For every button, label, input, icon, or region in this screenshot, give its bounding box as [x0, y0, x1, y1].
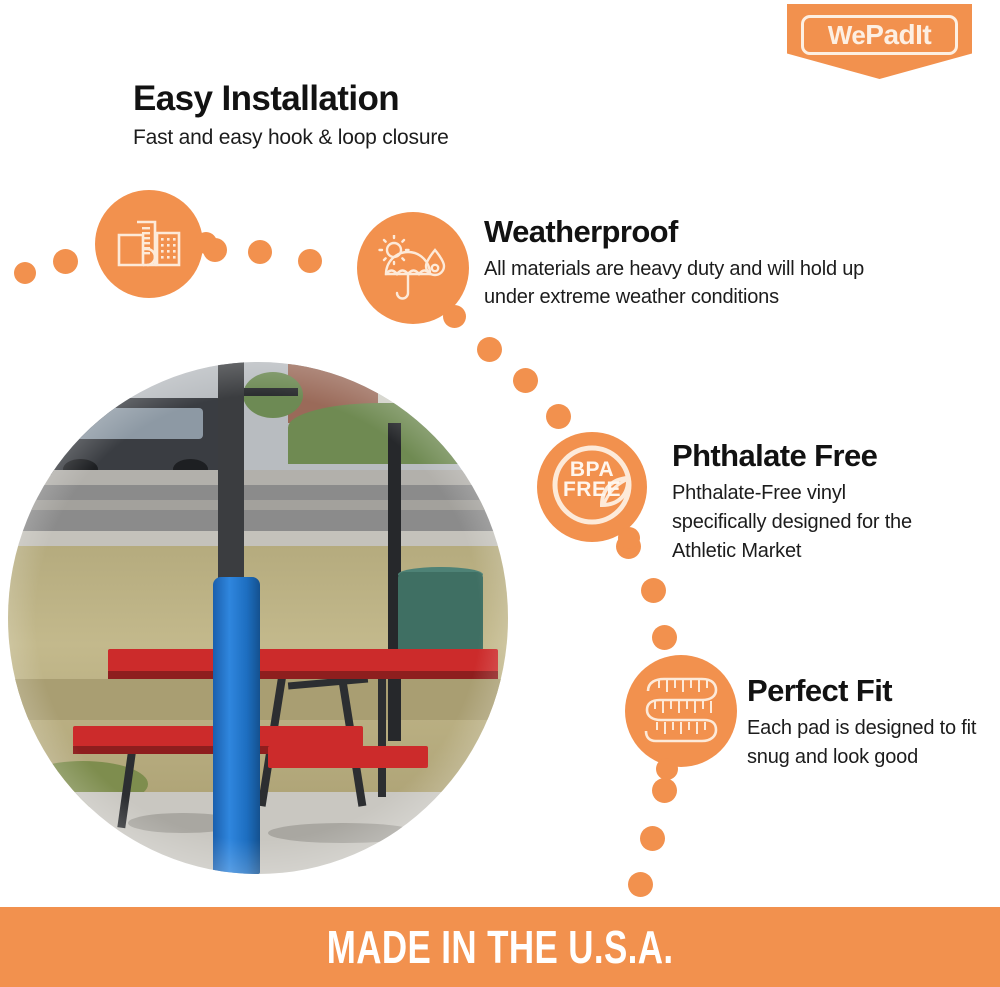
- tape-measure-icon: [625, 655, 737, 767]
- bpa-free-glyph: [540, 435, 644, 539]
- trail-dot: [641, 578, 666, 603]
- feature-description-phthalate-free: Phthalate-Free vinyl specifically design…: [672, 479, 942, 566]
- trail-dot: [652, 778, 677, 803]
- hook-and-loop-icon: [95, 190, 203, 298]
- feature-description-easy-installation: Fast and easy hook & loop closure: [133, 124, 553, 152]
- icon-nub: [443, 305, 466, 328]
- icon-nub: [195, 232, 217, 254]
- trail-dot: [513, 368, 538, 393]
- feature-title-phthalate-free: Phthalate Free: [672, 438, 877, 474]
- infographic-page: WePadIt Easy Installation Fast and easy …: [0, 0, 1000, 987]
- bpa-free-leaf-icon: BPA FREE: [537, 432, 647, 542]
- made-in-usa-text: MADE IN THE U.S.A.: [327, 920, 674, 974]
- trail-dot: [546, 404, 571, 429]
- trash-barrel: [398, 572, 483, 654]
- product-photo: [8, 362, 508, 874]
- trail-dot: [53, 249, 78, 274]
- feature-title-easy-installation: Easy Installation: [133, 79, 399, 119]
- icon-nub: [618, 527, 640, 549]
- trail-dot: [628, 872, 653, 897]
- trail-dot: [298, 249, 322, 273]
- picnic-table-top: [108, 649, 498, 673]
- feature-title-weatherproof: Weatherproof: [484, 214, 678, 250]
- weatherproof-glyph: [378, 235, 448, 301]
- trail-dot: [652, 625, 677, 650]
- steel-pole: [218, 362, 244, 592]
- tape-measure-glyph: [642, 673, 720, 749]
- feature-title-perfect-fit: Perfect Fit: [747, 673, 892, 709]
- made-in-usa-banner: MADE IN THE U.S.A.: [0, 907, 1000, 987]
- feature-description-perfect-fit: Each pad is designed to fit snug and loo…: [747, 714, 982, 772]
- icon-nub: [656, 758, 678, 780]
- trail-dot: [640, 826, 665, 851]
- feature-description-weatherproof: All materials are heavy duty and will ho…: [484, 255, 904, 311]
- trail-dot: [14, 262, 36, 284]
- logo-text: WePadIt: [787, 20, 972, 50]
- brand-logo[interactable]: WePadIt: [787, 4, 972, 79]
- blue-pole-pad: [213, 577, 260, 874]
- trail-dot: [477, 337, 502, 362]
- hook-and-loop-glyph: [117, 219, 181, 269]
- trail-dot: [248, 240, 272, 264]
